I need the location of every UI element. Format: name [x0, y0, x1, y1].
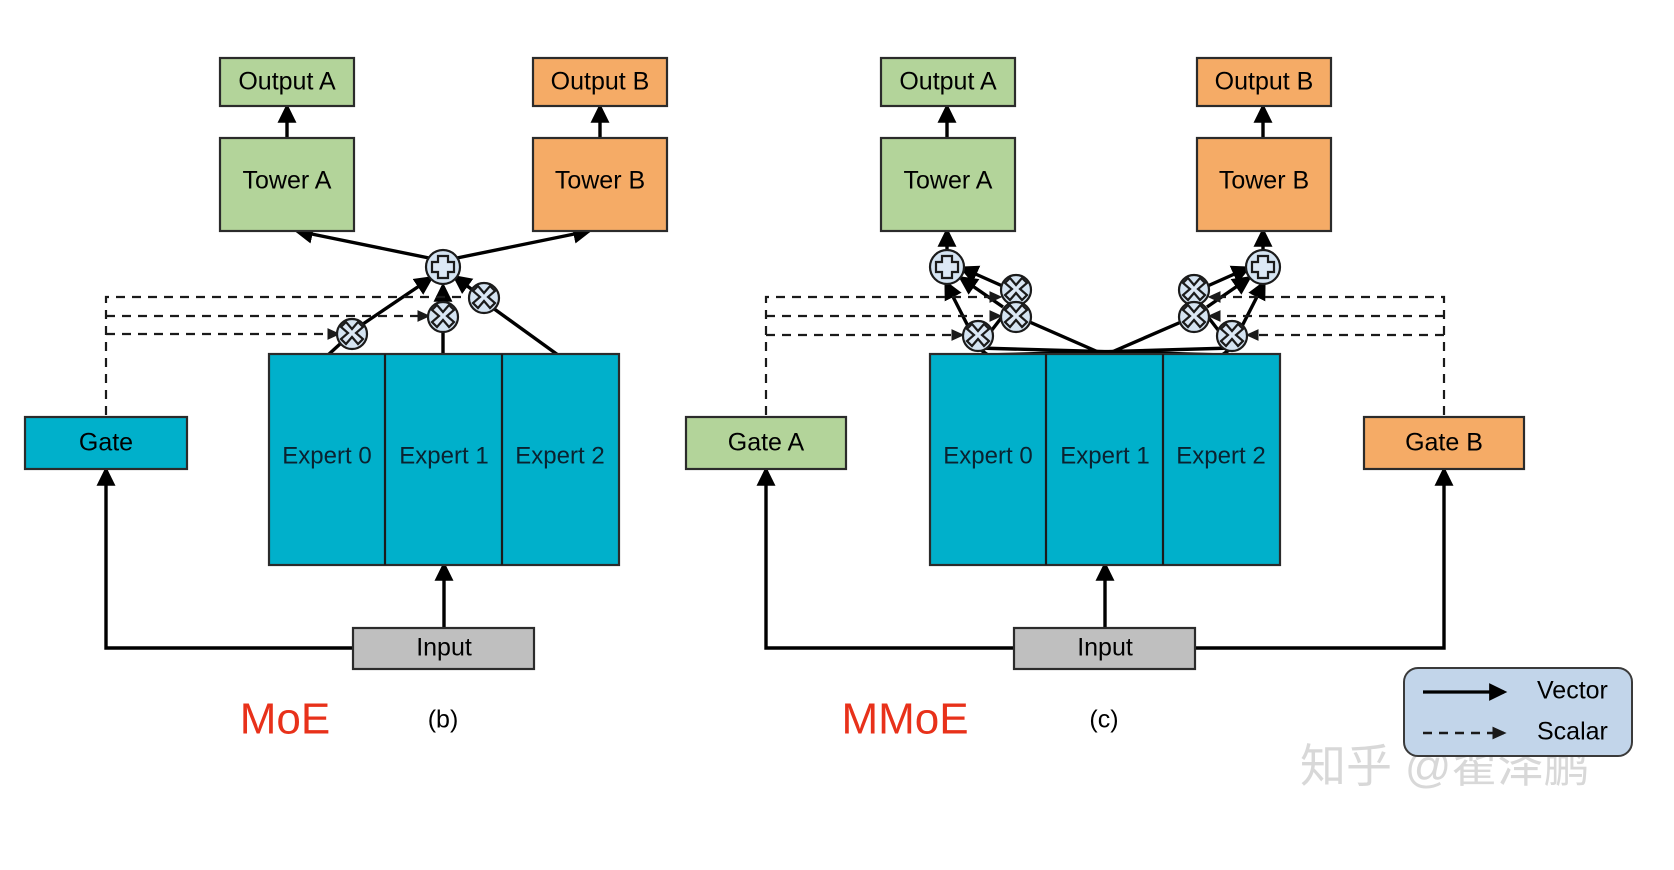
mmoe-mul-operator-a2 — [963, 321, 993, 351]
diagram-canvas: Output A Tower A Output B Tower B Gate — [0, 0, 1674, 870]
mmoe-gate-b-label: Gate B — [1405, 429, 1483, 457]
moe-output-b-label: Output B — [551, 68, 650, 96]
mmoe-mul-operator-b2 — [1217, 321, 1247, 351]
edge-mul0-to-sum — [360, 278, 431, 326]
moe-model-name: MoE — [240, 695, 330, 744]
moe-mul-operator-2 — [469, 283, 499, 313]
mmoe-mul-operator-b0 — [1179, 275, 1209, 305]
moe-output-a-label: Output A — [238, 68, 336, 96]
moe-experts-group[interactable]: Expert 0 Expert 1 Expert 2 — [269, 354, 619, 565]
moe-output-b-box[interactable]: Output B — [533, 58, 667, 106]
mmoe-model-name: MMoE — [841, 695, 968, 744]
moe-tower-b-box[interactable]: Tower B — [533, 138, 667, 231]
mmoe-sum-operator-b — [1246, 250, 1280, 284]
mmoe-mul-operator-a0 — [1001, 275, 1031, 305]
moe-gate-box[interactable]: Gate — [25, 417, 187, 469]
moe-mul-operator-1 — [428, 302, 458, 332]
legend-vector-label: Vector — [1537, 677, 1608, 705]
mmoe-gate-b-box[interactable]: Gate B — [1364, 417, 1524, 469]
moe-caption: (b) — [428, 706, 459, 734]
moe-expert-1-label: Expert 1 — [399, 442, 488, 469]
moe-expert-2-label: Expert 2 — [515, 442, 604, 469]
moe-gate-label: Gate — [79, 429, 133, 457]
mmoe-output-b-box[interactable]: Output B — [1197, 58, 1331, 106]
mmoe-gate-a-box[interactable]: Gate A — [686, 417, 846, 469]
mmoe-output-b-label: Output B — [1215, 68, 1314, 96]
architecture-diagram: Output A Tower A Output B Tower B Gate — [0, 0, 1674, 870]
edge-expert2-to-mul2 — [486, 303, 558, 355]
moe-mul-operator-0 — [337, 319, 367, 349]
mmoe-mul-operator-a1 — [1001, 302, 1031, 332]
mmoe-output-a-box[interactable]: Output A — [881, 58, 1015, 106]
legend-scalar-label: Scalar — [1537, 718, 1608, 746]
moe-tower-b-label: Tower B — [555, 167, 645, 195]
moe-expert-0-label: Expert 0 — [282, 442, 371, 469]
mmoe-experts-group[interactable]: Expert 0 Expert 1 Expert 2 — [930, 354, 1280, 565]
mmoe-input-label: Input — [1077, 634, 1133, 662]
mmoe-input-box[interactable]: Input — [1014, 628, 1195, 669]
mmoe-tower-a-label: Tower A — [904, 167, 993, 195]
edge-sum-to-tower-a — [297, 231, 429, 258]
mmoe-tower-a-box[interactable]: Tower A — [881, 138, 1015, 231]
mmoe-gate-a-label: Gate A — [728, 429, 805, 457]
moe-input-label: Input — [416, 634, 472, 662]
panel-mmoe: Output A Tower A Output B Tower B Gate A… — [686, 58, 1524, 744]
moe-tower-a-box[interactable]: Tower A — [220, 138, 354, 231]
moe-input-box[interactable]: Input — [353, 628, 534, 669]
mmoe-caption: (c) — [1089, 706, 1118, 734]
mmoe-expert-2-label: Expert 2 — [1176, 442, 1265, 469]
mmoe-expert-0-label: Expert 0 — [943, 442, 1032, 469]
moe-tower-a-label: Tower A — [243, 167, 332, 195]
mmoe-expert-1-label: Expert 1 — [1060, 442, 1149, 469]
edge-sum-to-tower-b — [457, 231, 589, 258]
moe-sum-operator — [426, 250, 460, 284]
mmoe-sum-operator-a — [930, 250, 964, 284]
legend-panel: Vector Scalar — [1404, 668, 1632, 756]
mmoe-mul-operator-b1 — [1179, 302, 1209, 332]
panel-moe: Output A Tower A Output B Tower B Gate — [25, 58, 667, 744]
mmoe-output-a-label: Output A — [899, 68, 997, 96]
mmoe-tower-b-label: Tower B — [1219, 167, 1309, 195]
mmoe-tower-b-box[interactable]: Tower B — [1197, 138, 1331, 231]
moe-output-a-box[interactable]: Output A — [220, 58, 354, 106]
